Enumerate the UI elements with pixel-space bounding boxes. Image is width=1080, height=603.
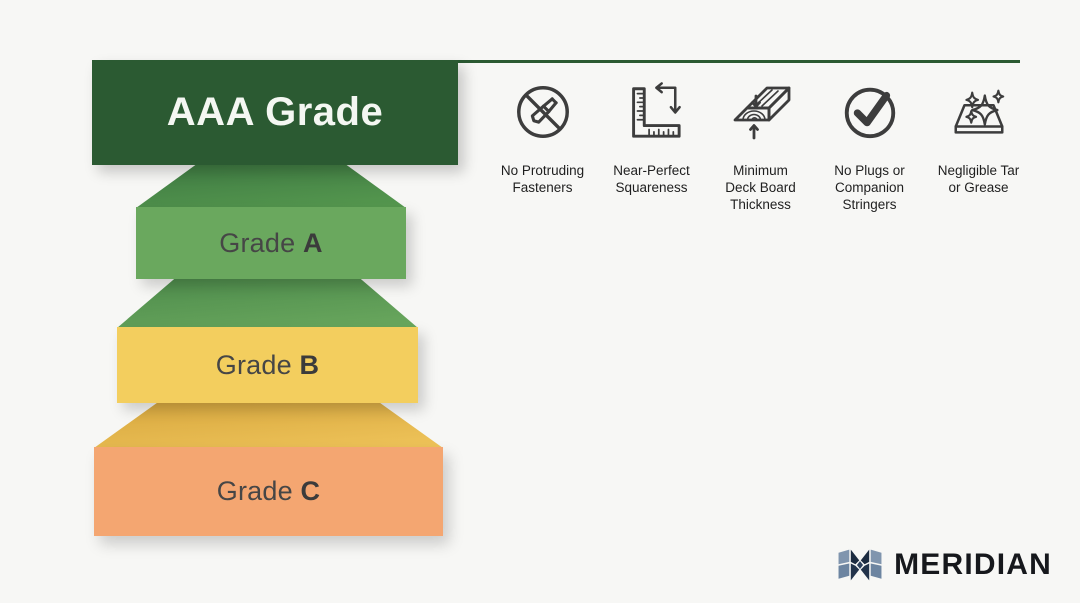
pyramid-tier-c-face: Grade C — [94, 447, 443, 536]
feature-item-near-perfect-squareness: Near-Perfect Squareness — [597, 72, 706, 213]
tier-connector-aaa-to-a — [136, 165, 406, 208]
pyramid-tier-a-face: Grade A — [136, 207, 406, 279]
pyramid-tier-a-label-prefix: Grade — [219, 228, 303, 258]
pyramid-tier-aaa-face: AAA Grade — [92, 60, 458, 165]
feature-item-no-plugs-companion-stringers: No Plugs or Companion Stringers — [815, 72, 924, 213]
feature-item-no-protruding-fasteners: No Protruding Fasteners — [488, 72, 597, 213]
clean-surface-sparkle-icon — [943, 72, 1015, 152]
meridian-logo-text: MERIDIAN — [894, 548, 1052, 582]
pyramid-tier-aaa-label: AAA Grade — [167, 90, 383, 135]
no-protruding-fastener-icon — [507, 72, 579, 152]
pyramid-tier-a-label: Grade A — [219, 228, 322, 259]
feature-label-near-perfect-squareness: Near-Perfect Squareness — [613, 162, 690, 196]
square-ruler-icon — [616, 72, 688, 152]
pyramid-tier-b-label-prefix: Grade — [216, 350, 300, 380]
pyramid-tier-c-label: Grade C — [217, 476, 320, 507]
pyramid-tier-b-label: Grade B — [216, 350, 319, 381]
feature-list: No Protruding Fasteners — [488, 72, 1036, 213]
tier-connector-a-to-b — [117, 279, 418, 328]
feature-item-deck-board-thickness: Minimum Deck Board Thickness — [706, 72, 815, 213]
feature-label-negligible-tar-grease: Negligible Tar or Grease — [938, 162, 1020, 196]
pyramid-tier-a-label-emphasis: A — [303, 228, 323, 258]
pyramid-tier-b-label-emphasis: B — [300, 350, 320, 380]
meridian-logo-mark-icon — [837, 545, 883, 585]
grade-pyramid: AAA Grade Grade A Grade B Grade C — [0, 0, 520, 603]
check-circle-icon — [834, 72, 906, 152]
feature-label-no-protruding-fasteners: No Protruding Fasteners — [501, 162, 584, 196]
meridian-logo[interactable]: MERIDIAN — [837, 545, 1052, 585]
pyramid-tier-b-face: Grade B — [117, 327, 418, 403]
feature-item-negligible-tar-grease: Negligible Tar or Grease — [924, 72, 1033, 213]
tier-connector-b-to-c — [94, 403, 443, 448]
pyramid-tier-c-label-prefix: Grade — [217, 476, 301, 506]
feature-label-no-plugs-companion-stringers: No Plugs or Companion Stringers — [834, 162, 905, 213]
infographic-canvas: AAA Grade Grade A Grade B Grade C — [0, 0, 1080, 603]
deck-board-thickness-icon — [725, 72, 797, 152]
feature-label-deck-board-thickness: Minimum Deck Board Thickness — [725, 162, 796, 213]
pyramid-tier-c-label-emphasis: C — [301, 476, 321, 506]
